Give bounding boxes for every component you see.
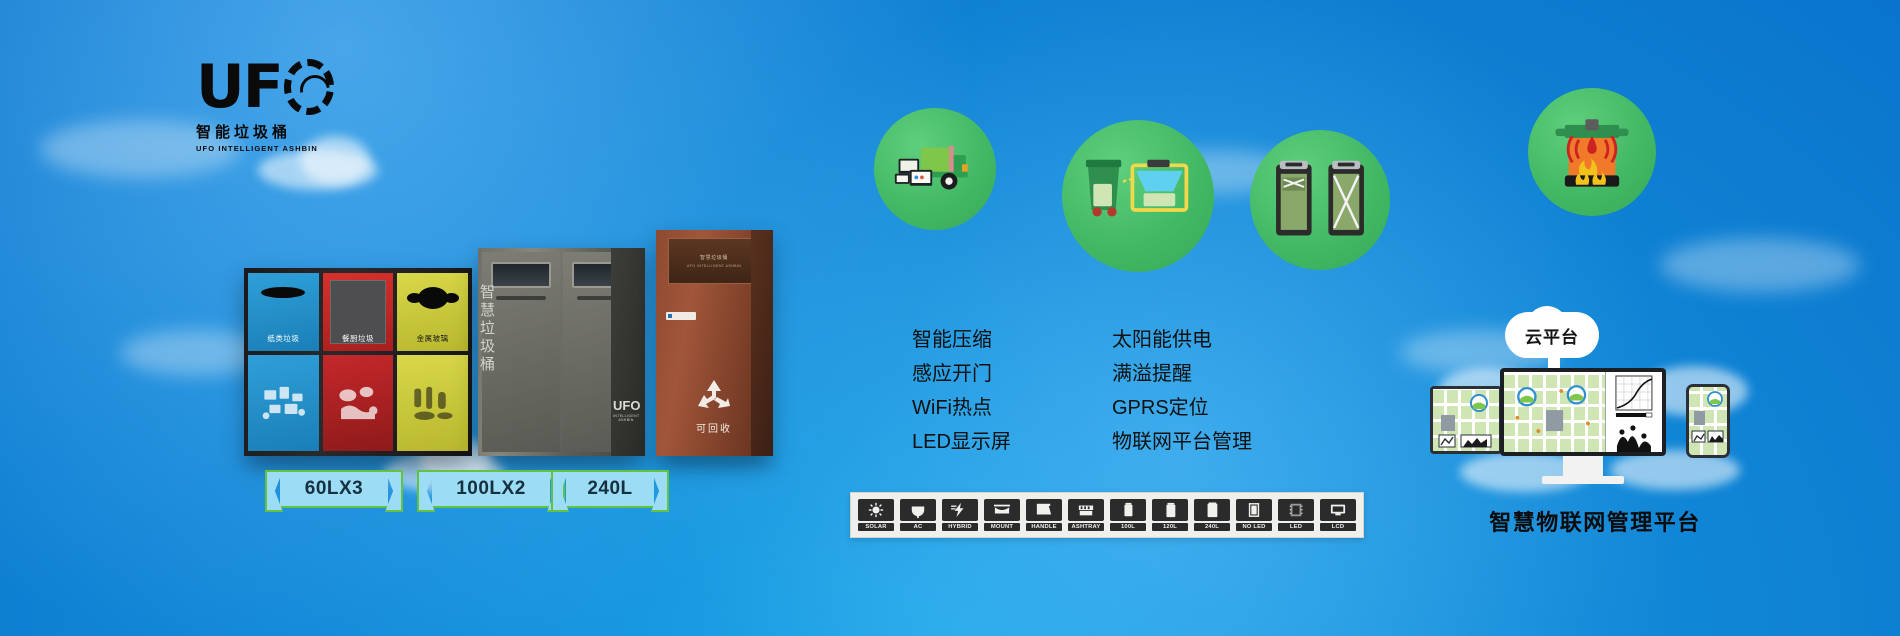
fill-level-bins-icon xyxy=(1250,130,1390,270)
metal-glass-graphic xyxy=(407,373,458,433)
no-led-icon xyxy=(1236,499,1272,521)
feature-item: 满溢提醒 xyxy=(1080,354,1252,388)
compartment-label: 纸类垃圾 xyxy=(248,333,319,344)
brown-bin-unit: 智慧垃圾桶 UFO INTELLIGENT ASHBIN 可回收 xyxy=(656,230,772,456)
bin-brand-mark: UFO INTELLIGENT ASHBIN xyxy=(613,399,639,422)
compartment-label: 餐厨垃圾 xyxy=(323,333,394,344)
feature-column-left: 智能压缩 感应开门 WiFi热点 LED显示屏 xyxy=(880,320,1011,456)
monitor-icon xyxy=(1080,330,1100,345)
spec-item-100l: 100L xyxy=(1109,499,1147,531)
capacity-label: 60LX3 xyxy=(305,478,363,500)
spec-label: 100L xyxy=(1110,523,1146,531)
analytics-charts xyxy=(1606,372,1662,452)
feature-label: 感应开门 xyxy=(912,357,992,386)
spec-label: AC xyxy=(900,523,936,531)
platform-caption: 智慧物联网管理平台 xyxy=(1445,505,1745,537)
monitor-icon xyxy=(1080,364,1100,379)
fire-alarm-bin-icon xyxy=(1528,88,1656,216)
feature-item: WiFi热点 xyxy=(880,388,1011,422)
led-display-icon xyxy=(1278,499,1314,521)
spec-item-ashtray: ASHTRAY xyxy=(1067,499,1105,531)
capacity-ribbon-240l: 240L xyxy=(566,470,654,508)
spec-label: HANDLE xyxy=(1026,523,1062,531)
brand-mark-text: UFO xyxy=(613,399,639,412)
cloud-platform-bubble: 云平台 xyxy=(1505,312,1599,358)
kitchen-waste-graphic xyxy=(333,373,384,433)
capacity-ribbon-100lx2: 100LX2 xyxy=(432,470,550,508)
spec-label: 120L xyxy=(1152,523,1188,531)
monitor-icon xyxy=(880,432,900,447)
monitor-screen xyxy=(1504,372,1662,452)
logo-english-name: UFO INTELLIGENT ASHBIN xyxy=(196,144,334,153)
spec-label: MOUNT xyxy=(984,523,1020,531)
screen-line-2: UFO INTELLIGENT ASHBIN xyxy=(687,264,742,268)
bin-vertical-text: 智慧垃圾桶 xyxy=(476,284,497,374)
capacity-label: 100LX2 xyxy=(456,478,526,500)
feature-label: WiFi热点 xyxy=(912,391,992,420)
fire-alarm-graphic xyxy=(1548,108,1636,196)
feature-item: 物联网平台管理 xyxy=(1080,422,1252,456)
paper-waste-graphic xyxy=(258,373,309,433)
lcd-display-icon xyxy=(1320,499,1356,521)
spec-item-120l: 120L xyxy=(1151,499,1189,531)
ufo-wordmark: U F xyxy=(196,56,334,118)
ashtray-icon xyxy=(1068,499,1104,521)
bin-side-panel: UFO INTELLIGENT ASHBIN xyxy=(611,248,645,456)
card-reader-icon xyxy=(666,312,696,320)
compaction-bin-icon xyxy=(1062,120,1214,272)
bin-120l-icon xyxy=(1152,499,1188,521)
feature-item: 感应开门 xyxy=(880,354,1011,388)
spec-label: HYBRID xyxy=(942,523,978,531)
hybrid-power-icon xyxy=(942,499,978,521)
spec-icon-strip: SOLAR AC HYBRID MOUNT xyxy=(850,492,1364,538)
spec-item-led: LED xyxy=(1277,499,1315,531)
monitor-stand xyxy=(1563,456,1603,478)
spec-label: ASHTRAY xyxy=(1068,523,1104,531)
truck-dispatch-icon xyxy=(874,108,996,230)
feature-label: 智能压缩 xyxy=(912,323,992,352)
wall-mount-icon xyxy=(984,499,1020,521)
spec-item-handle: HANDLE xyxy=(1025,499,1063,531)
feature-item: 智能压缩 xyxy=(880,320,1011,354)
recycle-icon xyxy=(694,378,734,414)
ac-power-icon xyxy=(900,499,936,521)
monitor-base xyxy=(1542,476,1624,484)
spec-item-ac: AC xyxy=(899,499,937,531)
spec-label: SOLAR xyxy=(858,523,894,531)
promo-banner: U F 智能垃圾桶 UFO INTELLIGENT ASHBIN 纸类垃圾 xyxy=(0,0,1900,636)
bin-100l-icon xyxy=(1110,499,1146,521)
spec-item-no-led: NO LED xyxy=(1235,499,1273,531)
logo-chinese-name: 智能垃圾桶 xyxy=(196,121,334,142)
spec-item-240l: 240L xyxy=(1193,499,1231,531)
tablet-content xyxy=(1433,389,1499,451)
tablet-device xyxy=(1430,386,1502,454)
spec-item-lcd: LCD xyxy=(1319,499,1357,531)
oval-slot-icon xyxy=(261,287,305,298)
cloud-platform-label: 云平台 xyxy=(1525,323,1579,348)
smartphone-device xyxy=(1686,384,1730,458)
truck-graphic xyxy=(893,138,977,200)
bin-display-screen: 智慧垃圾桶 UFO INTELLIGENT ASHBIN xyxy=(668,238,760,284)
triple-bin-unit: 纸类垃圾 餐厨垃圾 xyxy=(244,268,472,456)
monitor-icon xyxy=(1080,432,1100,447)
map-content xyxy=(1504,372,1605,452)
compaction-graphic xyxy=(1082,156,1194,236)
bin-compartment-metal-glass: 金属玻璃 xyxy=(397,273,468,451)
feature-label: 满溢提醒 xyxy=(1112,357,1192,386)
compartment-label: 金属玻璃 xyxy=(397,333,468,344)
brand-sub-text: INTELLIGENT ASHBIN xyxy=(613,414,639,422)
monitor-icon xyxy=(880,330,900,345)
chart-pane xyxy=(1605,372,1662,452)
spec-label: 240L xyxy=(1194,523,1230,531)
bin-window xyxy=(491,262,551,288)
iot-dashboard-illustration xyxy=(1430,356,1736,506)
round-slot-icon xyxy=(418,287,448,309)
bin-240l-icon xyxy=(1194,499,1230,521)
bin-edge-panel xyxy=(751,230,773,456)
bin-compartment-paper: 纸类垃圾 xyxy=(248,273,319,451)
feature-column-right: 太阳能供电 满溢提醒 GPRS定位 物联网平台管理 xyxy=(1080,320,1252,456)
double-bin-unit: UFO INTELLIGENT ASHBIN 智慧垃圾桶 xyxy=(478,248,644,456)
screen-line-1: 智慧垃圾桶 xyxy=(700,254,728,261)
feature-label: 太阳能供电 xyxy=(1112,323,1212,352)
ufo-ring-icon xyxy=(284,59,334,115)
spec-label: LED xyxy=(1278,523,1314,531)
spec-item-hybrid: HYBRID xyxy=(941,499,979,531)
spec-item-mount: MOUNT xyxy=(983,499,1021,531)
spec-label: NO LED xyxy=(1236,523,1272,531)
logo-letter-u: U xyxy=(196,57,243,117)
spec-item-solar: SOLAR xyxy=(857,499,895,531)
feature-item: LED显示屏 xyxy=(880,422,1011,456)
capacity-label: 240L xyxy=(587,478,632,500)
bin-compartment-kitchen: 餐厨垃圾 xyxy=(323,273,394,451)
spec-label: LCD xyxy=(1320,523,1356,531)
solar-panel-icon xyxy=(858,499,894,521)
feature-label: GPRS定位 xyxy=(1112,391,1209,420)
feature-label: LED显示屏 xyxy=(912,425,1011,454)
desktop-monitor xyxy=(1500,368,1666,456)
feature-item: 太阳能供电 xyxy=(1080,320,1252,354)
bin-handle xyxy=(496,296,546,300)
monitor-icon xyxy=(1080,398,1100,413)
cloud-bubble-shape: 云平台 xyxy=(1505,312,1599,358)
ufo-logo: U F 智能垃圾桶 UFO INTELLIGENT ASHBIN xyxy=(196,56,334,148)
capacity-ribbon-60lx3: 60LX3 xyxy=(280,470,388,508)
monitor-icon xyxy=(880,364,900,379)
feature-item: GPRS定位 xyxy=(1080,388,1252,422)
handle-icon xyxy=(1026,499,1062,521)
fill-level-graphic xyxy=(1268,157,1372,243)
phone-content xyxy=(1689,387,1727,455)
cloud-decor xyxy=(1660,238,1860,292)
logo-letter-f: F xyxy=(243,57,282,117)
monitor-icon xyxy=(880,398,900,413)
feature-label: 物联网平台管理 xyxy=(1112,425,1252,454)
